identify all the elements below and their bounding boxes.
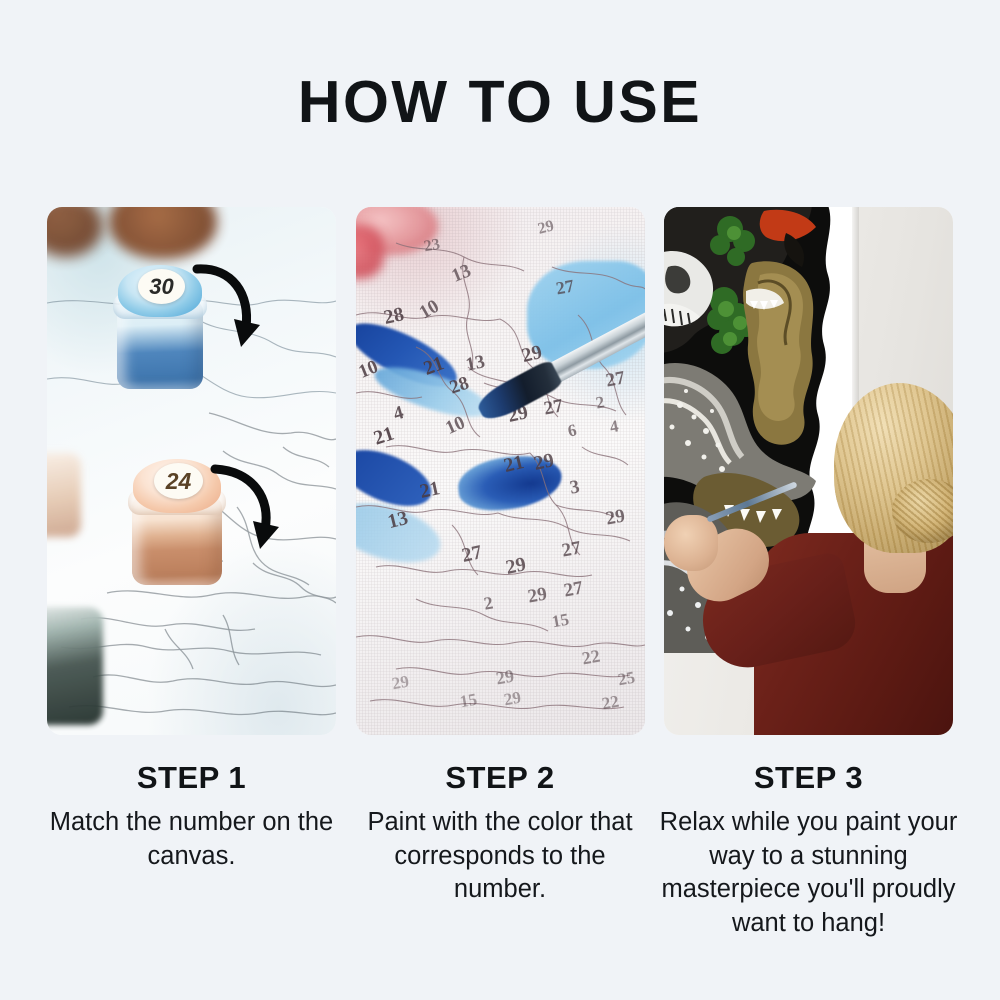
curved-arrow-icon-top — [197, 269, 260, 347]
step-card-1: 30 24 STEP 1 Match the number on t — [47, 207, 336, 941]
step-2-image: 23 13 29 27 28 10 10 21 28 13 29 27 4 21… — [356, 207, 645, 735]
curved-arrow-icon-bottom — [215, 469, 279, 549]
step-2-description: Paint with the color that corresponds to… — [350, 806, 650, 907]
step-3-description: Relax while you paint your way to a stun… — [659, 806, 959, 941]
person-painting — [760, 383, 953, 735]
step-2-label: STEP 2 — [445, 762, 554, 793]
canvas-numbers-group: 23 13 29 27 28 10 10 21 28 13 29 27 4 21… — [356, 207, 645, 735]
step-1-description: Match the number on the canvas. — [42, 806, 342, 873]
curved-arrow-icon-group — [47, 207, 336, 735]
step-card-2: 23 13 29 27 28 10 10 21 28 13 29 27 4 21… — [356, 207, 645, 941]
step-1-image: 30 24 — [47, 207, 336, 735]
step-3-label: STEP 3 — [754, 762, 863, 793]
step-3-image — [664, 207, 953, 735]
step-card-3: STEP 3 Relax while you paint your way to… — [664, 207, 953, 941]
step-1-label: STEP 1 — [137, 762, 246, 793]
steps-row: 30 24 STEP 1 Match the number on t — [47, 207, 953, 941]
page-title: HOW TO USE — [0, 73, 1000, 132]
hand — [664, 515, 718, 571]
